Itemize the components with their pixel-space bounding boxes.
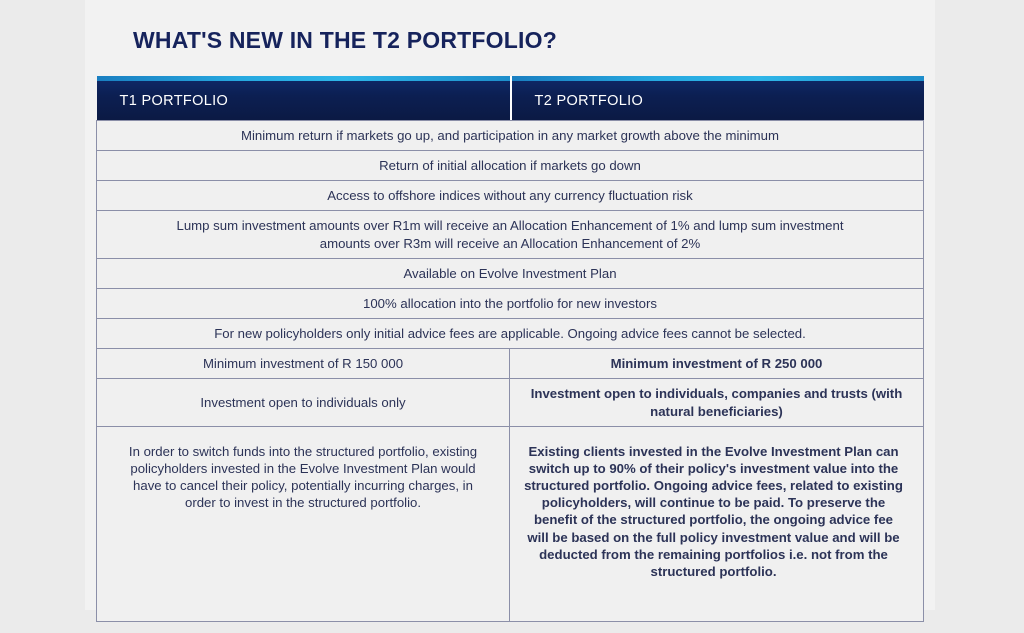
column-header-t1-label: T1 PORTFOLIO	[120, 92, 229, 111]
shared-feature-cell: Lump sum investment amounts over R1m wil…	[97, 211, 924, 258]
shared-feature-cell: Minimum return if markets go up, and par…	[97, 121, 924, 151]
table-row: Available on Evolve Investment Plan	[97, 258, 924, 288]
shared-feature-cell: For new policyholders only initial advic…	[97, 319, 924, 349]
table-header-cell-t1: T1 PORTFOLIO	[97, 76, 510, 121]
slide-panel: WHAT'S NEW IN THE T2 PORTFOLIO? T1 PORTF…	[85, 0, 935, 610]
accent-bar-right	[512, 76, 924, 81]
table-row: For new policyholders only initial advic…	[97, 319, 924, 349]
t2-feature-cell: Existing clients invested in the Evolve …	[510, 426, 924, 621]
t1-feature-cell: Investment open to individuals only	[97, 379, 510, 426]
column-header-t2-label: T2 PORTFOLIO	[535, 92, 644, 111]
table-row: Minimum investment of R 150 000 Minimum …	[97, 349, 924, 379]
table-row: Lump sum investment amounts over R1m wil…	[97, 211, 924, 258]
slide-canvas: WHAT'S NEW IN THE T2 PORTFOLIO? T1 PORTF…	[0, 0, 1024, 633]
shared-feature-cell: Access to offshore indices without any c…	[97, 181, 924, 211]
shared-feature-cell: Return of initial allocation if markets …	[97, 151, 924, 181]
page-title: WHAT'S NEW IN THE T2 PORTFOLIO?	[133, 27, 557, 54]
t1-feature-cell: In order to switch funds into the struct…	[97, 426, 510, 621]
t2-feature-cell: Minimum investment of R 250 000	[510, 349, 924, 379]
comparison-table-container: T1 PORTFOLIO T2 PORTFOLIO Minimum return…	[96, 76, 923, 622]
accent-bar-left	[97, 76, 510, 81]
shared-feature-cell: Available on Evolve Investment Plan	[97, 258, 924, 288]
t1-feature-cell: Minimum investment of R 150 000	[97, 349, 510, 379]
shared-feature-cell: 100% allocation into the portfolio for n…	[97, 288, 924, 318]
table-row: Return of initial allocation if markets …	[97, 151, 924, 181]
table-row: Minimum return if markets go up, and par…	[97, 121, 924, 151]
table-row: 100% allocation into the portfolio for n…	[97, 288, 924, 318]
table-header-cell-t2: T2 PORTFOLIO	[510, 76, 924, 121]
table-row: In order to switch funds into the struct…	[97, 426, 924, 621]
table-row: Investment open to individuals only Inve…	[97, 379, 924, 426]
comparison-table: T1 PORTFOLIO T2 PORTFOLIO Minimum return…	[96, 76, 924, 622]
table-header-row: T1 PORTFOLIO T2 PORTFOLIO	[97, 76, 924, 121]
table-row: Access to offshore indices without any c…	[97, 181, 924, 211]
t2-feature-cell: Investment open to individuals, companie…	[510, 379, 924, 426]
